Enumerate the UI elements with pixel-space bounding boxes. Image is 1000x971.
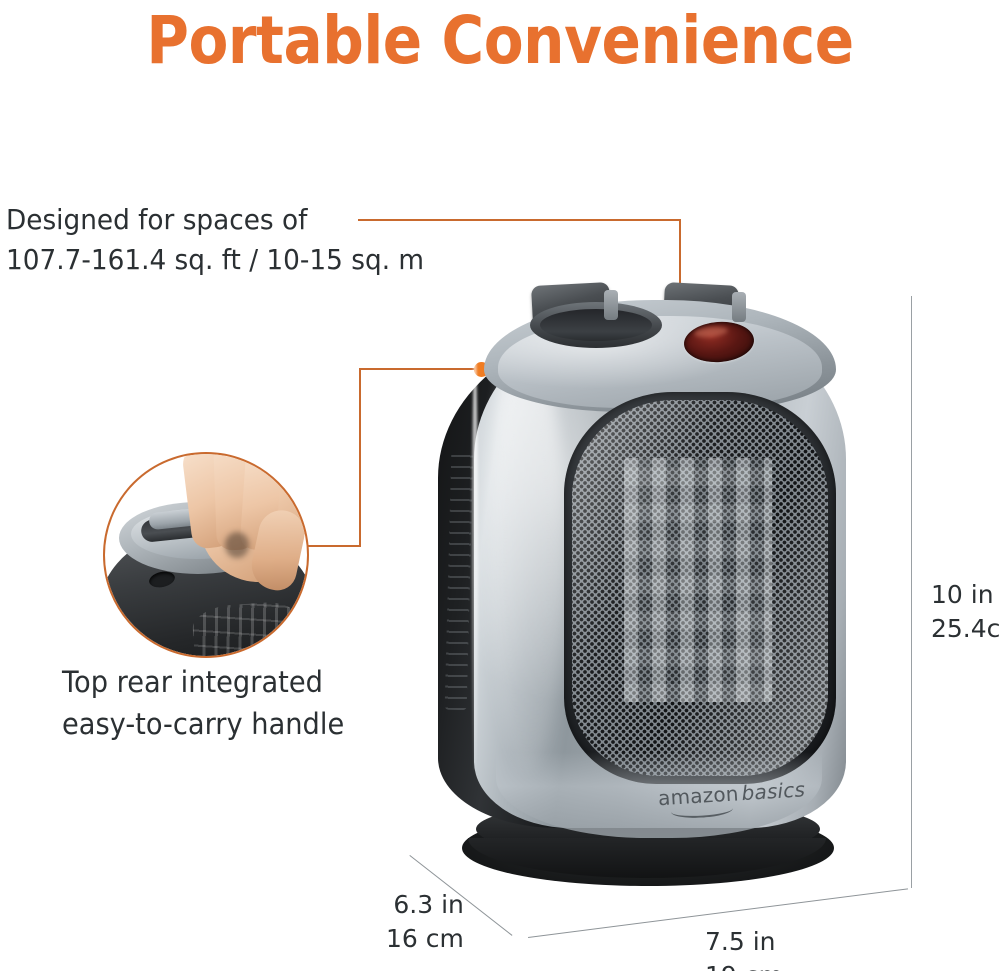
height-guide-line — [911, 296, 912, 888]
product-infographic: Portable Convenience Designed for spaces… — [0, 0, 1000, 971]
handle-closeup-inset — [103, 452, 309, 658]
width-metric: 19 cm — [705, 959, 783, 971]
width-imperial: 7.5 in — [705, 925, 783, 959]
heater-grille — [572, 400, 828, 776]
callout-spaces-line1: Designed for spaces of — [6, 200, 424, 240]
dimension-height-label: 10 in 25.4cm — [931, 578, 1000, 646]
dimension-depth-label: 6.3 in 16 cm — [386, 888, 464, 956]
callout-designed-for-spaces: Designed for spaces of 107.7-161.4 sq. f… — [6, 200, 424, 280]
carry-handle-recess — [540, 309, 652, 341]
depth-imperial: 6.3 in — [386, 888, 464, 922]
callout-spaces-line2: 107.7-161.4 sq. ft / 10-15 sq. m — [6, 240, 424, 280]
inset-finger-shadow — [225, 532, 249, 558]
callout-handle-line2: easy-to-carry handle — [62, 703, 344, 745]
ceramic-heating-element — [624, 458, 772, 702]
inset-hand — [169, 454, 305, 596]
product-image-heater: amazonbasics — [432, 282, 862, 892]
callout-handle-line1: Top rear integrated — [62, 661, 344, 703]
control-knob-right-tab[interactable] — [732, 292, 746, 322]
body-edge-highlight — [472, 352, 478, 772]
page-title: Portable Convenience — [60, 2, 940, 79]
depth-metric: 16 cm — [386, 922, 464, 956]
body-highlight — [488, 342, 566, 772]
leader-line-handle-vertical — [359, 368, 361, 547]
dimension-width-label: 7.5 in 19 cm — [705, 925, 783, 971]
height-metric: 25.4cm — [931, 612, 1000, 646]
control-knob-left-tab[interactable] — [604, 290, 618, 320]
leader-line-handle-lower — [305, 545, 361, 547]
inset-clip — [105, 454, 307, 656]
height-imperial: 10 in — [931, 578, 1000, 612]
callout-carry-handle: Top rear integrated easy-to-carry handle — [62, 661, 344, 745]
brand-basics: basics — [741, 777, 806, 805]
